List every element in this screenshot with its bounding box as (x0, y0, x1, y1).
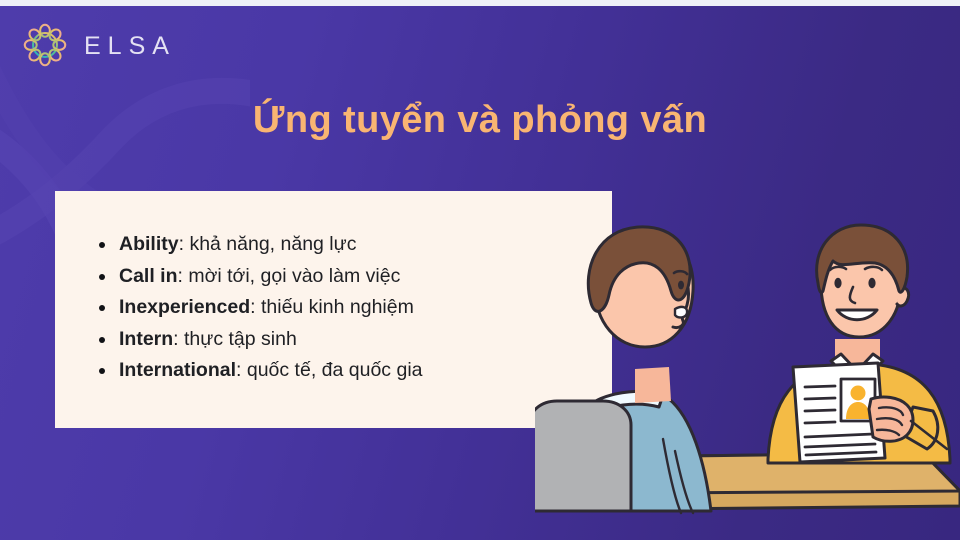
vocab-separator: : (236, 359, 247, 381)
vocab-definition: quốc tế, đa quốc gia (247, 359, 423, 381)
vocabulary-list: Ability: khả năng, năng lực Call in: mời… (55, 191, 612, 387)
vocabulary-card: Ability: khả năng, năng lực Call in: mời… (55, 191, 612, 428)
vocab-definition: khả năng, năng lực (189, 233, 356, 255)
vocab-term: Ability (119, 233, 179, 255)
vocab-separator: : (179, 233, 190, 255)
chair (535, 401, 631, 511)
job-interview-illustration (535, 211, 960, 540)
page-title: Ứng tuyển và phỏng vấn (0, 97, 960, 143)
vocab-separator: : (178, 265, 189, 287)
slide: ELSA Ứng tuyển và phỏng vấn Ability: khả… (0, 0, 960, 540)
vocab-term: Call in (119, 265, 178, 287)
vocab-separator: : (173, 328, 184, 350)
elsa-flower-logo-icon (22, 22, 68, 68)
slide-canvas: ELSA Ứng tuyển và phỏng vấn Ability: khả… (0, 6, 960, 540)
vocab-term: Inexperienced (119, 296, 250, 318)
brand-logo[interactable]: ELSA (22, 22, 176, 68)
vocab-term: International (119, 359, 236, 381)
vocab-definition: mời tới, gọi vào làm việc (188, 265, 400, 287)
brand-name: ELSA (84, 32, 176, 59)
vocab-separator: : (250, 296, 261, 318)
vocab-definition: thiếu kinh nghiệm (261, 296, 414, 318)
vocab-definition: thực tập sinh (184, 328, 297, 350)
vocab-term: Intern (119, 328, 173, 350)
